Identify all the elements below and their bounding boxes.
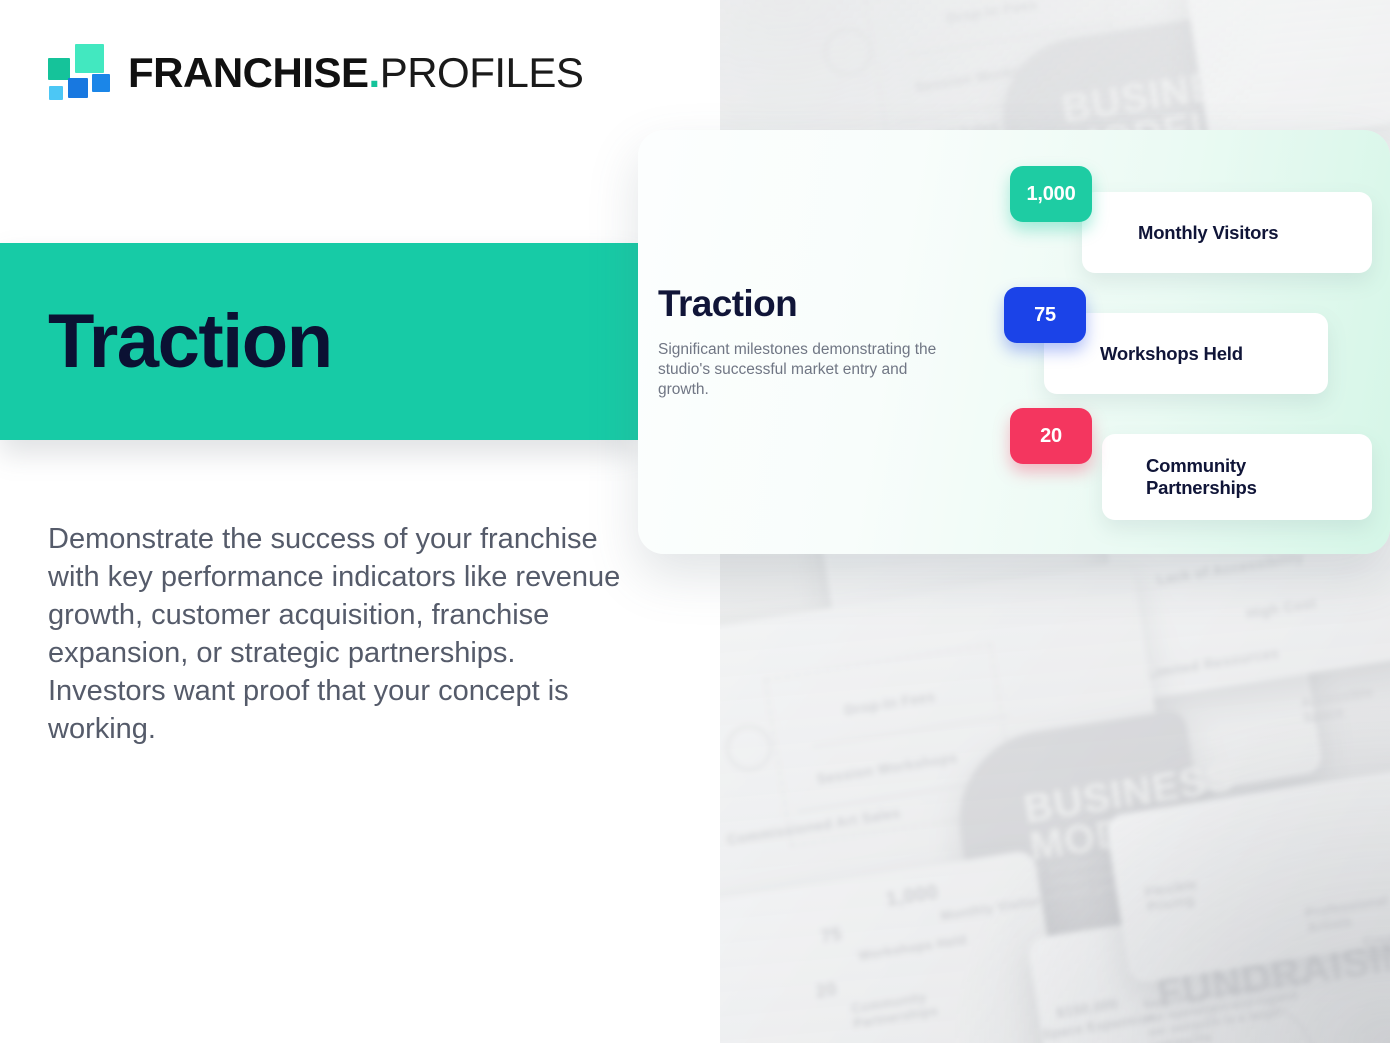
card-heading-block: Traction Significant milestones demonstr…: [658, 285, 978, 400]
traction-preview-card[interactable]: Traction Significant milestones demonstr…: [638, 130, 1390, 554]
left-content-panel: FRANCHISE.PROFILES Traction Demonstrate …: [0, 0, 720, 1043]
metric-value: 1,000: [1026, 183, 1075, 206]
metric-row[interactable]: Community Partnerships 20: [1004, 408, 1372, 529]
metric-row[interactable]: Monthly Visitors 1,000: [1004, 166, 1372, 287]
brand-logo[interactable]: FRANCHISE.PROFILES: [48, 42, 583, 104]
metric-card[interactable]: Community Partnerships: [1102, 434, 1372, 520]
metric-value-badge: 20: [1010, 408, 1092, 464]
metric-card[interactable]: Monthly Visitors: [1082, 192, 1372, 273]
brand-name-dot: .: [369, 49, 380, 96]
card-title: Traction: [658, 285, 978, 322]
metrics-list: Monthly Visitors 1,000 Workshops Held 75…: [1004, 166, 1372, 529]
metric-value-badge: 75: [1004, 287, 1086, 343]
intro-paragraph: Demonstrate the success of your franchis…: [48, 520, 623, 748]
metric-value: 20: [1040, 425, 1062, 448]
brand-name-light: PROFILES: [380, 49, 584, 96]
metric-row[interactable]: Workshops Held 75: [1004, 287, 1372, 408]
metric-label: Community Partnerships: [1146, 455, 1336, 499]
title-banner: Traction: [0, 243, 638, 440]
page-title: Traction: [48, 304, 332, 380]
metric-value: 75: [1034, 304, 1056, 327]
squares-mosaic-icon: [48, 44, 110, 102]
metric-card[interactable]: Workshops Held: [1044, 313, 1328, 394]
card-subtitle: Significant milestones demonstrating the…: [658, 340, 958, 400]
metric-label: Workshops Held: [1100, 343, 1243, 365]
metric-value-badge: 1,000: [1010, 166, 1092, 222]
brand-name-bold: FRANCHISE: [128, 49, 369, 96]
brand-wordmark: FRANCHISE.PROFILES: [128, 52, 583, 94]
metric-label: Monthly Visitors: [1138, 222, 1278, 244]
